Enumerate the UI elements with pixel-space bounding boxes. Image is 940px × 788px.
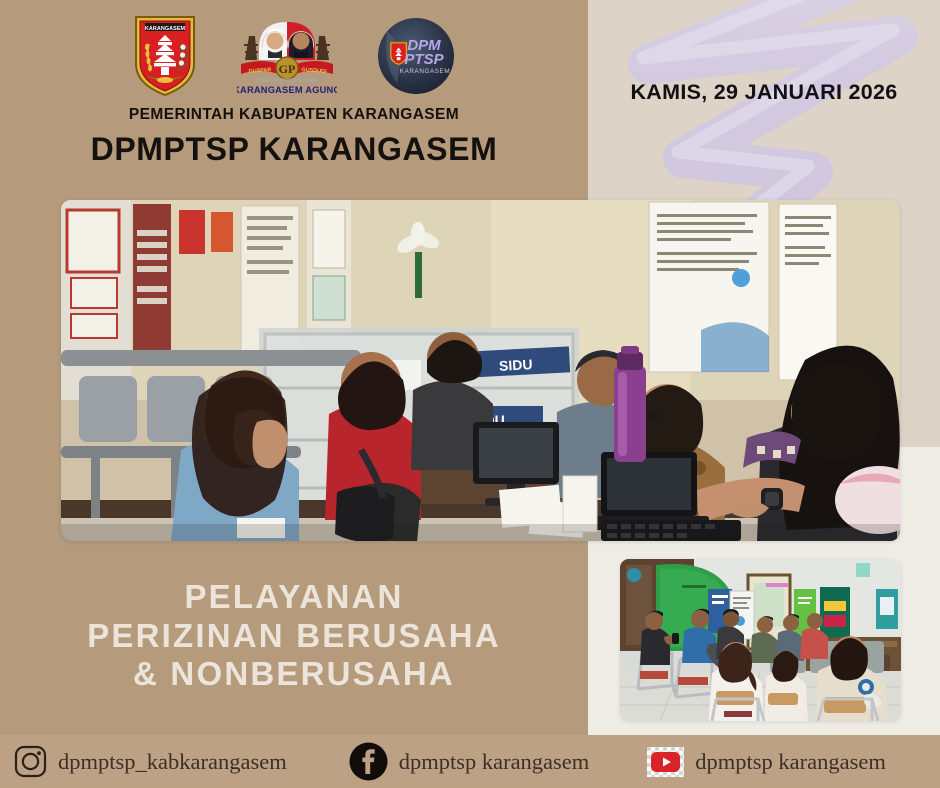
karangasem-agung-logo: GUSPAR GUSDUGI GP KARANGASEM AGUNG bbox=[237, 14, 337, 98]
agency-title: DPMPTSP KARANGASEM bbox=[0, 131, 588, 168]
headline-line-1: PELAYANAN bbox=[0, 578, 588, 617]
instagram-handle: dpmptsp_kabkarangasem bbox=[58, 749, 287, 775]
karangasem-regency-crest: KARANGASEM bbox=[133, 14, 197, 98]
svg-text:PTSP: PTSP bbox=[404, 51, 444, 68]
svg-text:GP: GP bbox=[279, 62, 296, 76]
youtube-social-item[interactable]: dpmptsp karangasem bbox=[647, 747, 886, 777]
svg-text:GUSDUGI: GUSDUGI bbox=[301, 67, 327, 75]
headline-line-2: PERIZINAN BERUSAHA bbox=[0, 617, 588, 656]
facebook-social-item[interactable]: dpmptsp karangasem bbox=[349, 742, 590, 781]
service-counter-photo: SIDU SIDU bbox=[61, 200, 900, 541]
facebook-handle: dpmptsp karangasem bbox=[399, 749, 590, 775]
headline-line-3: & NONBERUSAHA bbox=[0, 655, 588, 694]
instagram-icon[interactable] bbox=[14, 745, 47, 778]
svg-text:KARANGASEM AGUNG: KARANGASEM AGUNG bbox=[237, 85, 337, 95]
social-footer-bar: dpmptsp_kabkarangasem dpmptsp karangasem bbox=[0, 735, 940, 788]
waiting-room-photo: en bbox=[620, 559, 901, 721]
youtube-icon[interactable] bbox=[647, 747, 684, 777]
svg-text:KARANGASEM: KARANGASEM bbox=[400, 68, 450, 75]
svg-text:KARANGASEM: KARANGASEM bbox=[145, 26, 186, 32]
government-subtitle: PEMERINTAH KABUPATEN KARANGASEM bbox=[0, 106, 588, 124]
logo-row: KARANGASEM bbox=[0, 10, 588, 102]
poster-canvas: KARANGASEM bbox=[0, 0, 940, 788]
headline-block: PELAYANAN PERIZINAN BERUSAHA & NONBERUSA… bbox=[0, 578, 588, 694]
instagram-social-item[interactable]: dpmptsp_kabkarangasem bbox=[14, 745, 287, 778]
youtube-handle: dpmptsp karangasem bbox=[695, 749, 886, 775]
facebook-icon[interactable] bbox=[349, 742, 388, 781]
svg-text:SIDU: SIDU bbox=[499, 356, 533, 374]
svg-text:GUSPAR: GUSPAR bbox=[248, 67, 271, 75]
svg-text:en: en bbox=[635, 574, 643, 581]
dpmptsp-karangasem-logo: DPM PTSP KARANGASEM bbox=[377, 17, 455, 95]
date-label: KAMIS, 29 JANUARI 2026 bbox=[588, 80, 940, 105]
